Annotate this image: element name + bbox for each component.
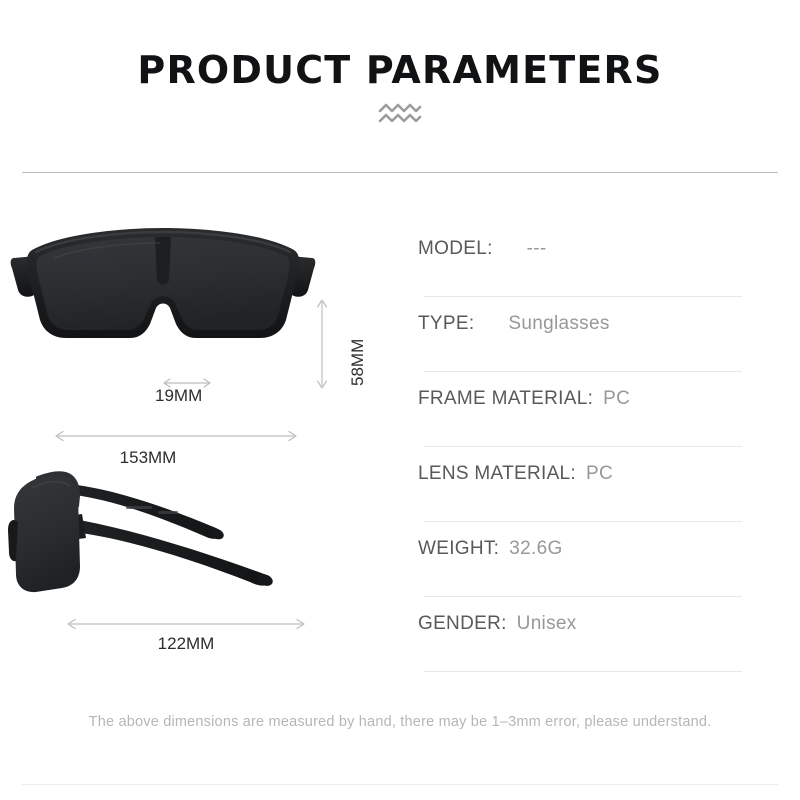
product-parameters-page: PRODUCT PARAMETERS 78MM	[0, 0, 800, 800]
dimension-label-lens-height: 58MM	[348, 339, 368, 386]
spec-separator	[424, 446, 742, 447]
spec-row-gender: GENDER: Unisex	[418, 607, 748, 682]
dimension-label-nose-bridge: 19MM	[155, 386, 202, 406]
spec-label-lens-material: LENS MATERIAL:	[418, 463, 576, 485]
spec-separator	[424, 671, 742, 672]
sunglasses-side-view-svg	[8, 466, 328, 596]
zigzag-wave-ornament-svg	[377, 102, 423, 128]
spec-separator	[424, 521, 742, 522]
sunglasses-side-view	[8, 466, 328, 601]
spec-value-type: Sunglasses	[508, 313, 609, 335]
spec-label-frame-material: FRAME MATERIAL:	[418, 388, 593, 410]
spec-label-weight: WEIGHT:	[418, 538, 499, 560]
spec-value-model: ---	[527, 238, 547, 260]
dimension-arrow-lens-height	[316, 294, 328, 399]
spec-row-model: MODEL: ---	[418, 232, 748, 307]
spec-row-type: TYPE: Sunglasses	[418, 307, 748, 382]
header-divider	[22, 172, 778, 173]
spec-value-frame-material: PC	[603, 388, 630, 410]
spec-value-weight: 32.6G	[509, 538, 562, 560]
spec-row-lens-material: LENS MATERIAL: PC	[418, 457, 748, 532]
spec-separator	[424, 296, 742, 297]
product-figures: 78MM	[0, 186, 400, 686]
zigzag-wave-ornament	[0, 100, 800, 130]
specifications-list: MODEL: --- TYPE: Sunglasses FRAME MATERI…	[418, 232, 748, 682]
spec-label-type: TYPE:	[418, 313, 474, 335]
spec-separator	[424, 596, 742, 597]
spec-separator	[424, 371, 742, 372]
dimension-arrow-total-width	[50, 429, 302, 447]
sunglasses-front-view-svg	[10, 228, 316, 348]
measurement-disclaimer: The above dimensions are measured by han…	[0, 714, 800, 730]
dimension-label-temple-length: 122MM	[158, 634, 215, 654]
page-title: PRODUCT PARAMETERS	[0, 48, 800, 92]
spec-value-lens-material: PC	[586, 463, 613, 485]
spec-label-model: MODEL:	[418, 238, 493, 260]
spec-row-weight: WEIGHT: 32.6G	[418, 532, 748, 607]
sunglasses-front-view	[10, 228, 316, 353]
dimension-label-total-width: 153MM	[120, 448, 177, 468]
spec-row-frame-material: FRAME MATERIAL: PC	[418, 382, 748, 457]
spec-label-gender: GENDER:	[418, 613, 507, 635]
dimension-arrow-temple-length	[62, 617, 310, 635]
footer-divider	[22, 784, 778, 785]
spec-value-gender: Unisex	[517, 613, 577, 635]
